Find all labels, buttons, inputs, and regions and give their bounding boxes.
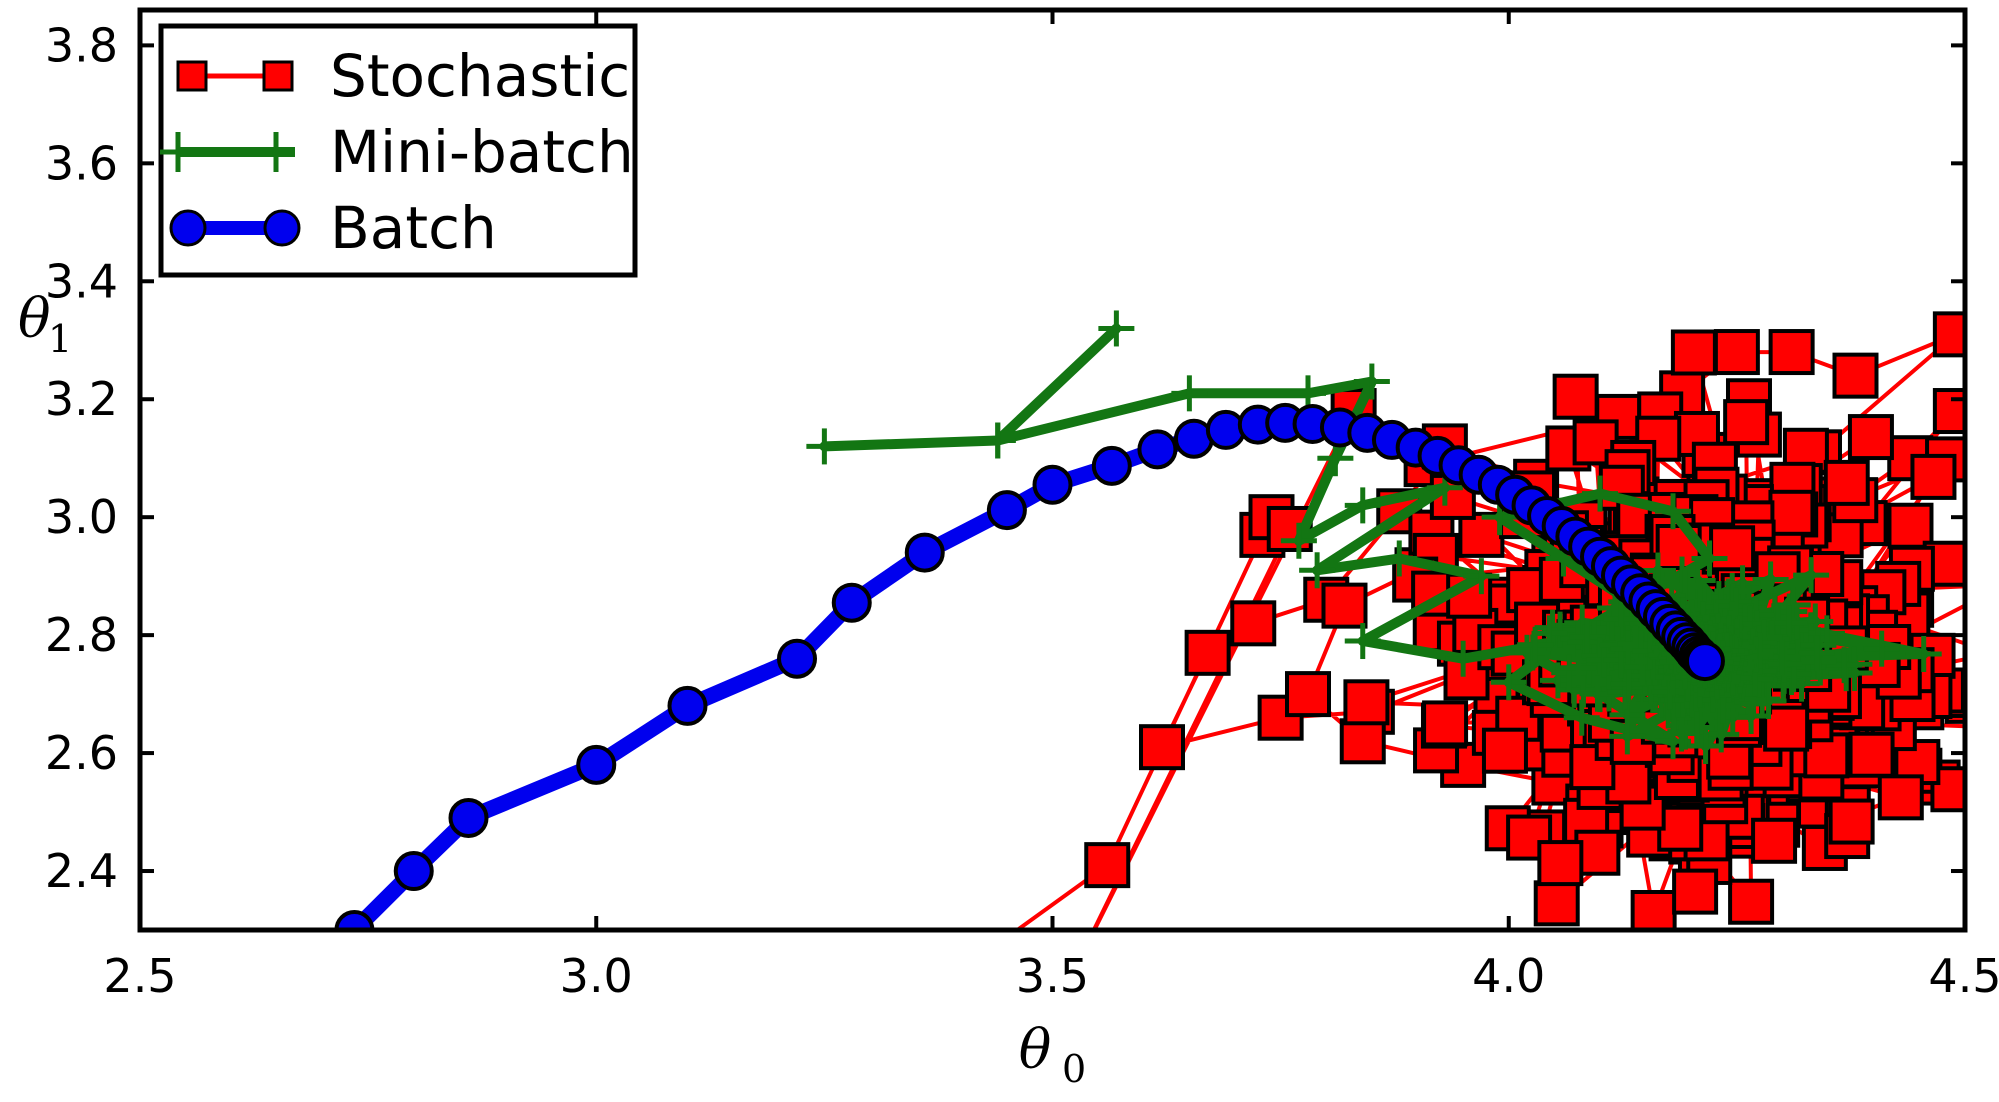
x-tick-label: 4.5 [1928,949,1999,1003]
x-axis-title-symbol: θ [1019,1018,1052,1081]
data-point-marker [1851,734,1893,776]
data-point-marker [1730,881,1772,923]
chart-figure: 2.53.03.54.04.5 2.42.62.83.03.23.43.63.8… [0,0,1999,1102]
data-point-marker [1035,467,1071,503]
data-point-marker [1094,448,1130,484]
data-point-marker [1687,643,1723,679]
data-point-marker [1342,720,1384,762]
legend-label-stochastic: Stochastic [330,42,630,110]
data-point-marker [1673,331,1715,373]
data-point-marker [670,688,706,724]
x-tick-label: 3.5 [1016,949,1089,1003]
y-axis-title-symbol: θ [18,287,51,350]
data-point-marker [1187,632,1229,674]
data-point-marker [1424,702,1466,744]
data-point-marker [779,641,815,677]
y-tick-label: 2.4 [45,844,118,898]
data-point-marker [1141,726,1183,768]
data-point-marker [1912,456,1954,498]
y-tick-label: 2.6 [45,726,118,780]
y-tick-label: 3.8 [45,18,118,72]
data-point-marker [1555,376,1597,418]
x-tick-label: 2.5 [103,949,176,1003]
data-point-marker [1484,730,1526,772]
y-tick-label: 3.6 [45,136,118,190]
data-point-marker [1716,331,1758,373]
data-point-marker [1345,681,1387,723]
data-point-marker [1880,776,1922,818]
data-point-marker [451,800,487,836]
x-tick-label: 4.0 [1472,949,1545,1003]
data-point-marker [1086,844,1128,886]
legend-marker-square-icon [178,62,206,90]
data-point-marker [578,747,614,783]
data-point-marker [1674,871,1716,913]
data-point-marker [1850,416,1892,458]
data-point-marker [1826,462,1868,504]
legend-marker-circle-icon [265,211,299,245]
data-point-marker [1770,492,1812,534]
data-point-marker [1139,431,1175,467]
data-point-marker [834,585,870,621]
y-tick-label: 3.0 [45,490,118,544]
x-axis-title-subscript: 0 [1062,1047,1086,1091]
x-tick-label: 3.0 [560,949,633,1003]
chart-canvas: 2.53.03.54.04.5 2.42.62.83.03.23.43.63.8… [0,0,1999,1102]
data-point-marker [1208,412,1244,448]
data-point-marker [1835,355,1877,397]
data-point-marker [396,853,432,889]
data-point-marker [1753,820,1795,862]
y-tick-label: 2.8 [45,608,118,662]
data-point-marker [1889,505,1931,547]
data-point-marker [1711,527,1753,569]
data-point-marker [1539,842,1581,884]
legend-marker-circle-icon [171,211,205,245]
data-point-marker [1324,585,1366,627]
data-point-marker [1232,602,1274,644]
data-point-marker [989,492,1025,528]
y-tick-label: 3.2 [45,372,118,426]
data-point-marker [907,535,943,571]
data-point-marker [1287,673,1329,715]
data-point-marker [1831,801,1873,843]
y-tick-label: 3.4 [45,254,118,308]
legend-marker-square-icon [264,62,292,90]
y-axis-title-subscript: 1 [48,317,72,361]
legend[interactable]: Stochastic Mini-batch Batch [160,26,635,275]
legend-label-batch: Batch [330,194,497,262]
legend-label-mini-batch: Mini-batch [330,118,634,186]
data-point-marker [1725,401,1767,443]
data-point-marker [1771,331,1813,373]
data-point-marker [1536,882,1578,924]
